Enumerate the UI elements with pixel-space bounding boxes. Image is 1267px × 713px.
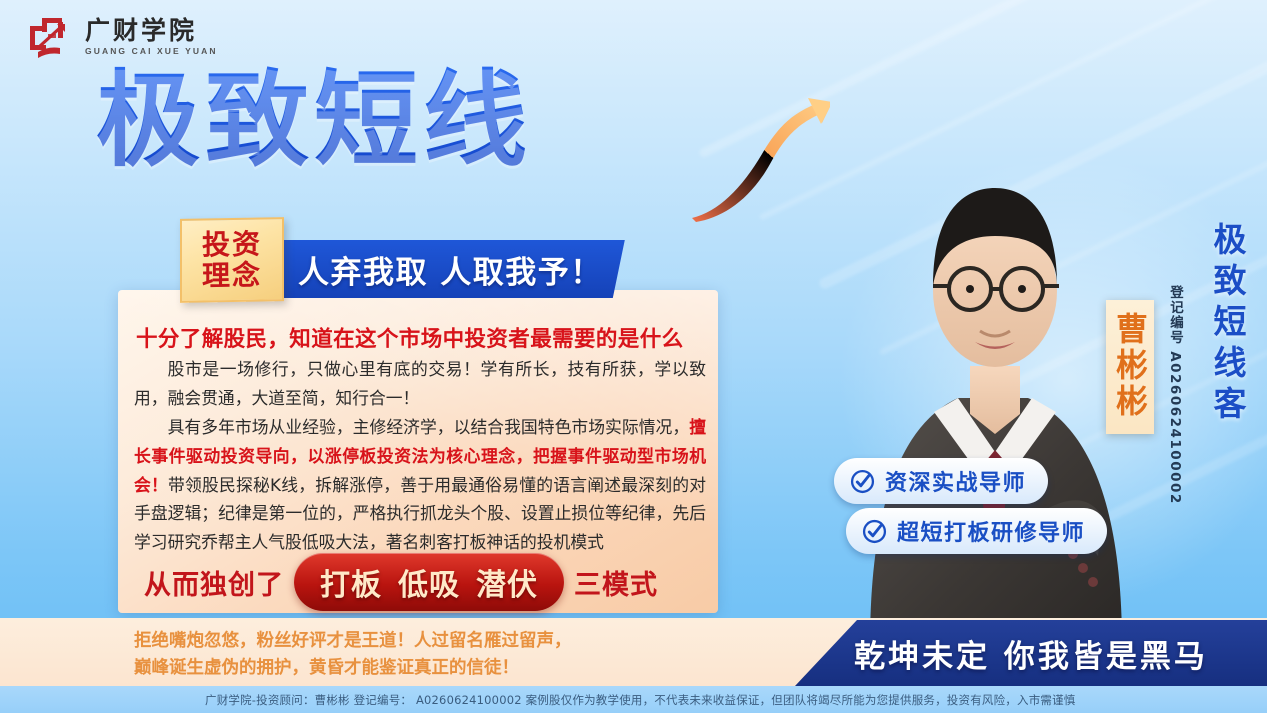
modes-prefix: 从而独创了 — [144, 563, 284, 602]
card-paragraph-2-pre: 具有多年市场从业经验，主修经济学，以结合我国特色市场实际情况， — [168, 417, 690, 437]
card-paragraph-1: 股市是一场修行，只做心里有底的交易！学有所长，技有所获，学以致用，融会贯通，大道… — [134, 355, 706, 413]
vertical-title: 极致短线客 — [1203, 222, 1251, 427]
philosophy-badge: 投资 理念 — [180, 217, 284, 303]
modes-pill: 打板 低吸 潜伏 — [294, 553, 564, 611]
instructor-name: 曹彬彬 — [1107, 312, 1153, 420]
philosophy-slogan: 人弃我取 人取我予！ — [298, 247, 603, 292]
mode-item-1: 低吸 — [398, 560, 460, 604]
poster-canvas: 广财学院 GUANG CAI XUE YUAN 极致短线 投资 理念 人弃我取 … — [0, 0, 1267, 713]
rising-arrow-icon — [690, 92, 830, 222]
philosophy-block: 投资 理念 人弃我取 人取我予！ — [180, 218, 625, 302]
disclaimer-text: 广财学院-投资顾问：曹彬彬 登记编号： A0260624100002 案例股仅作… — [205, 692, 1076, 708]
mode-item-2: 潜伏 — [476, 560, 538, 604]
check-circle-icon — [862, 519, 887, 544]
motto-banner: 乾坤未定 你我皆是黑马 — [795, 620, 1267, 686]
cert-label-0: 资深实战导师 — [885, 465, 1026, 497]
brand-name-en: GUANG CAI XUE YUAN — [85, 47, 218, 56]
band-message-line1: 拒绝嘴炮忽悠，粉丝好评才是王道！人过留名雁过留声， — [134, 628, 754, 655]
modes-suffix: 三模式 — [574, 563, 658, 602]
motto-text: 乾坤未定 你我皆是黑马 — [854, 631, 1208, 676]
philosophy-ribbon: 人弃我取 人取我予！ — [268, 240, 625, 298]
mode-item-0: 打板 — [320, 560, 382, 604]
hero-title: 极致短线 — [96, 66, 532, 175]
cert-badge-0[interactable]: 资深实战导师 — [834, 458, 1048, 504]
book-arrow-logo-icon — [24, 12, 76, 62]
philosophy-badge-line2: 理念 — [202, 259, 262, 291]
brand-logo: 广财学院 GUANG CAI XUE YUAN — [24, 12, 218, 62]
card-paragraph-2-post: 带领股民探秘K线，拆解涨停，善于用最通俗易懂的语言阐述最深刻的对手盘逻辑；纪律是… — [134, 475, 706, 553]
card-paragraph-2: 具有多年市场从业经验，主修经济学，以结合我国特色市场实际情况，擅长事件驱动投资导… — [134, 413, 706, 557]
card-body: 股市是一场修行，只做心里有底的交易！学有所长，技有所获，学以致用，融会贯通，大道… — [134, 355, 706, 557]
band-message: 拒绝嘴炮忽悠，粉丝好评才是王道！人过留名雁过留声， 巅峰诞生虚伪的拥护，黄昏才能… — [134, 628, 754, 682]
registration-number: 登记编号 A0260624100002 — [1165, 285, 1185, 505]
modes-line: 从而独创了 打板 低吸 潜伏 三模式 — [144, 553, 658, 611]
band-message-line2: 巅峰诞生虚伪的拥护，黄昏才能鉴证真正的信徒！ — [134, 655, 754, 682]
brand-name-cn: 广财学院 — [85, 18, 218, 43]
instructor-name-plate: 曹彬彬 — [1106, 300, 1154, 434]
cert-label-1: 超短打板研修导师 — [897, 515, 1085, 547]
card-headline: 十分了解股民，知道在这个市场中投资者最需要的是什么 — [136, 322, 706, 353]
philosophy-badge-line1: 投资 — [202, 228, 262, 260]
cert-badge-1[interactable]: 超短打板研修导师 — [846, 508, 1107, 554]
disclaimer-bar: 广财学院-投资顾问：曹彬彬 登记编号： A0260624100002 案例股仅作… — [0, 686, 1267, 713]
check-circle-icon — [850, 469, 875, 494]
